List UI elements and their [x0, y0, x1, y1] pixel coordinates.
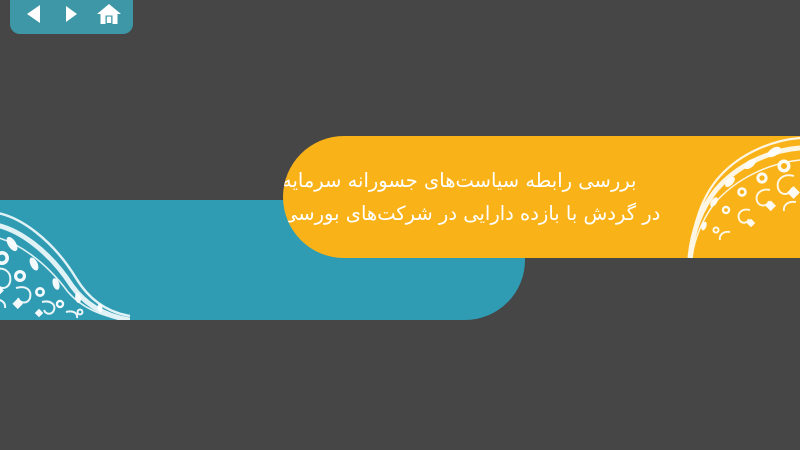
- arabesque-corner-ornament: [0, 200, 130, 320]
- next-triangle-icon: [64, 4, 79, 24]
- previous-triangle-icon: [25, 4, 43, 24]
- home-button[interactable]: [94, 0, 124, 28]
- next-slide-button[interactable]: [57, 0, 87, 28]
- previous-slide-button[interactable]: [19, 0, 49, 28]
- presentation-slide: بررسی رابطه سیاست‌های جسورانه سرمایه در …: [0, 0, 800, 450]
- home-icon: [96, 2, 122, 26]
- title-line-1: بررسی رابطه سیاست‌های جسورانه سرمایه: [283, 164, 636, 197]
- title-line-2: در گردش با بازده دارایی در شرکت‌های بورس…: [283, 197, 660, 230]
- slide-title: بررسی رابطه سیاست‌های جسورانه سرمایه در …: [283, 136, 612, 258]
- title-band: بررسی رابطه سیاست‌های جسورانه سرمایه در …: [283, 136, 800, 258]
- navigation-toolbar: [10, 0, 133, 34]
